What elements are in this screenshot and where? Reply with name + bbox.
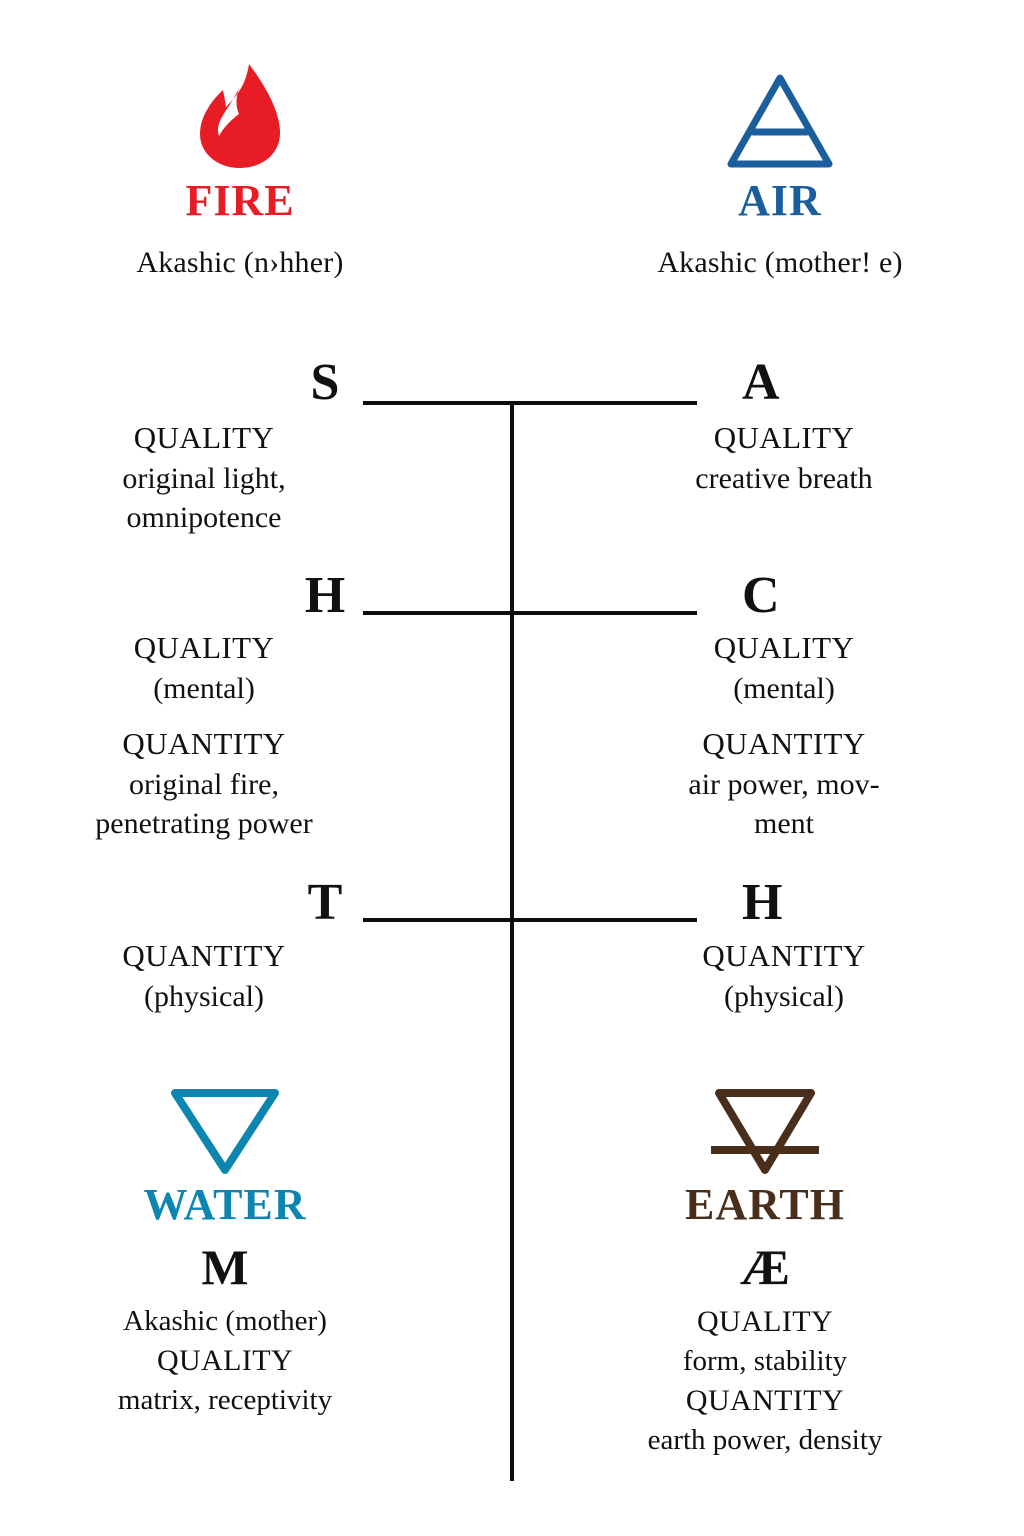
row-t-h-right-text: QUANTITY (physical) [604, 936, 964, 1016]
caption: QUANTITY [604, 724, 964, 765]
air-akashic-text: Akashic (mother! e) [600, 246, 960, 280]
value: penetrating power [24, 804, 384, 843]
value: original fire, [24, 765, 384, 804]
value: Akashic (mother) [45, 1302, 405, 1341]
earth-triangle-icon [585, 1062, 945, 1174]
water-text-lines: Akashic (mother) QUALITY matrix, recepti… [45, 1302, 405, 1420]
row-s-a-left-text: QUALITY original light, omnipotence [24, 418, 384, 537]
element-label-fire: FIRE [60, 178, 420, 224]
row-letter-t: T [290, 877, 360, 929]
air-triangle-icon [600, 58, 960, 170]
caption: QUALITY [45, 1341, 405, 1381]
value: original light, [24, 459, 384, 498]
value: matrix, receptivity [45, 1381, 405, 1420]
value: (physical) [604, 977, 964, 1016]
flame-icon [60, 58, 420, 170]
caption: QUALITY [24, 418, 384, 459]
value: form, stability [585, 1342, 945, 1381]
earth-text-lines: QUALITY form, stability QUANTITY earth p… [585, 1302, 945, 1460]
quadrant-earth: EARTH Æ QUALITY form, stability QUANTITY… [585, 1062, 945, 1460]
earth-letter-ae: Æ [585, 1242, 945, 1292]
value: omnipotence [24, 498, 384, 537]
value: (mental) [24, 669, 384, 708]
caption: QUANTITY [24, 724, 384, 765]
quadrant-air: AIR Akashic (mother! e) [600, 58, 960, 280]
caption: QUALITY [585, 1302, 945, 1342]
caption: QUANTITY [585, 1381, 945, 1421]
row-letter-h-water: H [700, 877, 852, 929]
value: earth power, density [585, 1421, 945, 1460]
horizontal-divider-3 [363, 918, 697, 922]
row-h-c-right-text: QUALITY (mental) QUANTITY air power, mov… [604, 628, 964, 843]
center-vertical-divider [510, 403, 514, 1481]
caption: QUANTITY [604, 936, 964, 977]
row-letter-c: C [700, 570, 852, 622]
value: ment [604, 804, 964, 843]
caption: QUALITY [24, 628, 384, 669]
row-s-a-right-text: QUALITY creative breath [604, 418, 964, 498]
row-h-c-left-text: QUALITY (mental) QUANTITY original fire,… [24, 628, 384, 843]
value: (mental) [604, 669, 964, 708]
fire-akashic-text: Akashic (n›hher) [60, 246, 420, 280]
value: (physical) [24, 977, 384, 1016]
water-letter-m: M [45, 1242, 405, 1292]
row-t-h-left-text: QUANTITY (physical) [24, 936, 384, 1016]
element-label-earth: EARTH [585, 1182, 945, 1228]
water-triangle-icon [45, 1062, 405, 1174]
row-letter-h-fire: H [290, 570, 360, 622]
quadrant-water: WATER M Akashic (mother) QUALITY matrix,… [45, 1062, 405, 1420]
value: air power, mov- [604, 765, 964, 804]
quadrant-fire: FIRE Akashic (n›hher) [60, 58, 420, 280]
caption: QUANTITY [24, 936, 384, 977]
value: creative breath [604, 459, 964, 498]
element-label-water: WATER [45, 1182, 405, 1228]
horizontal-divider-2 [363, 611, 697, 615]
row-letter-a: A [700, 357, 852, 409]
element-label-air: AIR [600, 178, 960, 224]
caption: QUALITY [604, 628, 964, 669]
caption: QUALITY [604, 418, 964, 459]
row-letter-s: S [290, 357, 360, 409]
horizontal-divider-1 [363, 401, 697, 405]
